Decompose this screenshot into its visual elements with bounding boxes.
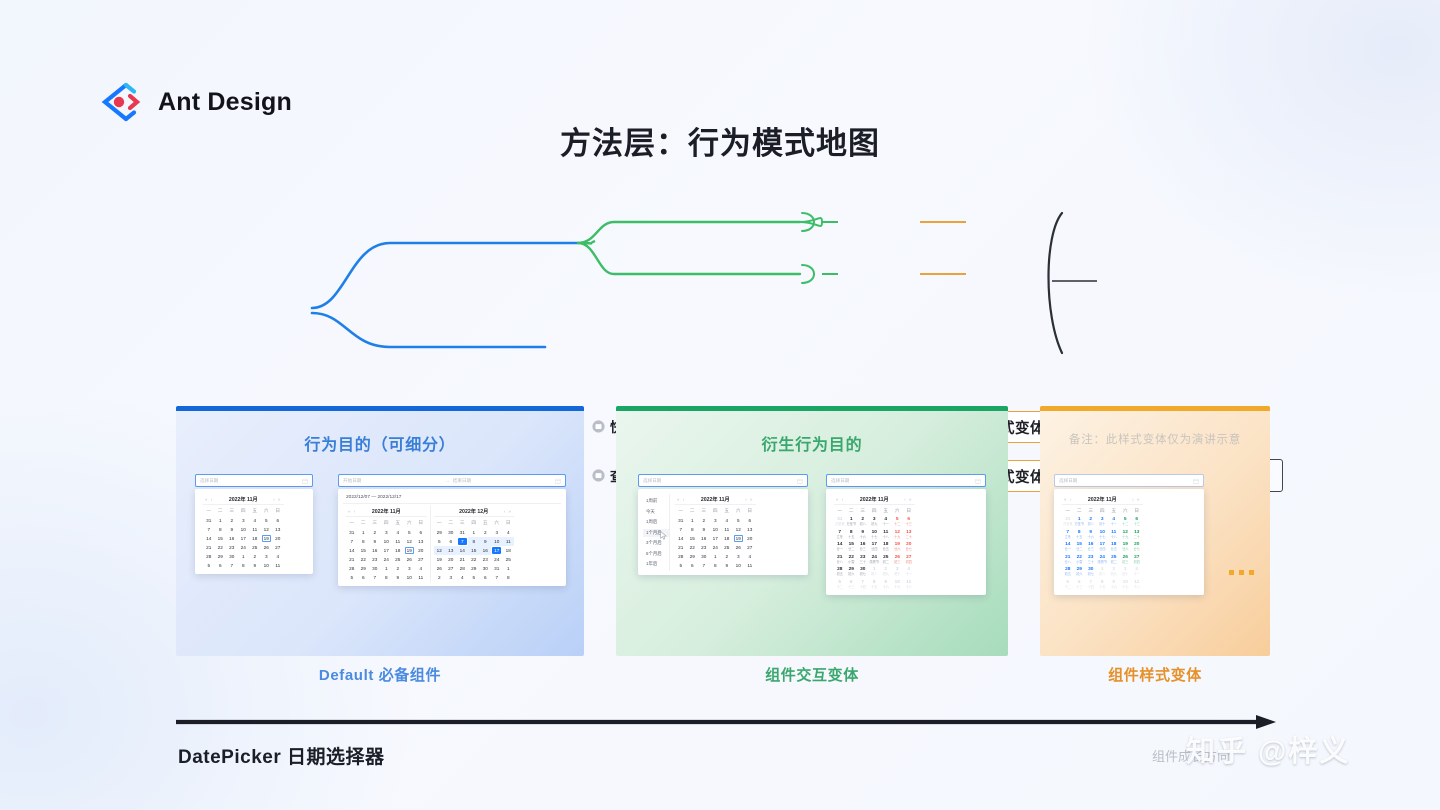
calendar-day-cell[interactable]: 5: [675, 561, 687, 570]
calendar-day-cell[interactable]: 9: [480, 537, 492, 546]
calendar-day-cell[interactable]: 1: [710, 552, 722, 561]
calendar-day-cell[interactable]: 25初二: [1108, 554, 1120, 567]
calendar-day-cell[interactable]: 26: [261, 543, 273, 552]
calendar-day-cell[interactable]: 7: [226, 561, 238, 570]
calendar-day-cell[interactable]: 6: [480, 573, 492, 582]
calendar-day-cell[interactable]: 20: [272, 534, 284, 543]
calendar-day-cell[interactable]: 17: [710, 534, 722, 543]
calendar-day-cell[interactable]: 28: [203, 552, 215, 561]
calendar-day-cell[interactable]: 28初五: [1062, 566, 1074, 579]
calendar-day-cell[interactable]: 14廿一: [834, 541, 846, 554]
calendar-day-cell[interactable]: 15: [468, 546, 480, 555]
calendar-day-cell[interactable]: 2: [369, 528, 381, 537]
prev-year-button[interactable]: « ‹: [677, 497, 685, 502]
calendar-day-cell[interactable]: 27: [415, 555, 427, 564]
calendar-day-cell[interactable]: 2: [392, 564, 404, 573]
calendar-day-cell[interactable]: 15: [687, 534, 699, 543]
calendar-day-cell[interactable]: 12十九: [1120, 529, 1132, 542]
datepicker-styled[interactable]: 选择日期 « ‹ 2022年 11月 › » 一二三四五: [1054, 474, 1204, 595]
calendar-day-cell[interactable]: 17: [238, 534, 250, 543]
calendar-day-cell[interactable]: 18: [503, 546, 515, 555]
next-year-button[interactable]: › »: [504, 509, 512, 514]
calendar-day-cell[interactable]: 15廿二: [1074, 541, 1086, 554]
calendar-day-cell[interactable]: 6十三: [1074, 579, 1086, 592]
calendar-day-cell[interactable]: 10十七: [1097, 529, 1109, 542]
calendar-day-cell[interactable]: 9: [392, 573, 404, 582]
calendar-day-cell[interactable]: 5十二: [1120, 516, 1132, 529]
calendar-day-cell[interactable]: 25: [392, 555, 404, 564]
calendar-day-cell[interactable]: 25: [249, 543, 261, 552]
calendar-day-cell[interactable]: 5十二: [834, 579, 846, 592]
datepicker-range[interactable]: 开始日期 → 结束日期 2022/12/07 — 2022/12/17 « ‹: [338, 474, 566, 586]
calendar-day-cell[interactable]: 5十二: [892, 516, 904, 529]
calendar-day-cell[interactable]: 6: [744, 516, 756, 525]
calendar-day-cell[interactable]: 9: [721, 561, 733, 570]
calendar-day-cell[interactable]: 29: [468, 564, 480, 573]
calendar-day-cell[interactable]: 17廿四: [869, 541, 881, 554]
calendar-day-cell[interactable]: 3: [261, 552, 273, 561]
prev-year-button[interactable]: « ‹: [1064, 497, 1072, 502]
calendar-title[interactable]: 2022年 11月: [1088, 496, 1117, 503]
calendar-title[interactable]: 2022年 11月: [860, 496, 889, 503]
calendar-day-cell[interactable]: 10: [491, 537, 503, 546]
calendar-day-cell[interactable]: 29初六: [846, 566, 858, 579]
datepicker-range-input[interactable]: 开始日期 → 结束日期: [338, 474, 566, 487]
calendar-day-cell[interactable]: 6: [415, 528, 427, 537]
calendar-day-cell[interactable]: 6: [272, 516, 284, 525]
calendar-day-cell[interactable]: 3: [238, 516, 250, 525]
calendar-day-cell[interactable]: 1: [215, 516, 227, 525]
calendar-day-cell[interactable]: 10: [733, 561, 745, 570]
calendar-day-cell[interactable]: 28: [346, 564, 358, 573]
calendar-day-cell[interactable]: 18: [392, 546, 404, 555]
calendar-day-cell[interactable]: 20廿七: [903, 541, 915, 554]
calendar-day-cell[interactable]: 19: [404, 546, 416, 555]
calendar-day-cell[interactable]: 20: [744, 534, 756, 543]
calendar-day-cell[interactable]: 1: [468, 528, 480, 537]
calendar-day-cell[interactable]: 13: [744, 525, 756, 534]
calendar-day-cell[interactable]: 9十六: [1108, 579, 1120, 592]
calendar-day-cell[interactable]: 17: [381, 546, 393, 555]
calendar-day-cell[interactable]: 26初三: [1120, 554, 1132, 567]
calendar-day-cell[interactable]: 18: [249, 534, 261, 543]
calendar-day-cell[interactable]: 10: [381, 537, 393, 546]
calendar-day-cell[interactable]: 6: [358, 573, 370, 582]
calendar-grid: 一二三四五六日 31123456789101112131415161718192…: [203, 506, 284, 570]
calendar-day-cell[interactable]: 10: [238, 525, 250, 534]
calendar-day-cell[interactable]: 21: [203, 543, 215, 552]
calendar-day-cell[interactable]: 16: [226, 534, 238, 543]
calendar-day-cell[interactable]: 29: [687, 552, 699, 561]
calendar-day-cell[interactable]: 29: [434, 528, 446, 537]
calendar-day-cell[interactable]: 3初十: [1097, 516, 1109, 529]
datepicker-input[interactable]: 选择日期: [826, 474, 986, 487]
calendar-day-cell[interactable]: 3: [491, 528, 503, 537]
calendar-day-cell[interactable]: 9十六: [880, 579, 892, 592]
calendar-day-cell[interactable]: 26: [434, 564, 446, 573]
calendar-title[interactable]: 2022年 11月: [372, 508, 401, 515]
preset-item[interactable]: 1年后: [643, 560, 669, 568]
calendar-day-cell[interactable]: 2: [480, 528, 492, 537]
calendar-day-cell[interactable]: 12: [261, 525, 273, 534]
calendar-day-cell[interactable]: 24: [710, 543, 722, 552]
panel-style-variants: 备注：此样式变体仅为演讲示意 选择日期 « ‹ 2022年 11月 › »: [1040, 406, 1270, 656]
calendar-day-cell[interactable]: 19: [733, 534, 745, 543]
calendar-day-cell[interactable]: 11: [392, 537, 404, 546]
calendar-day-cell[interactable]: 4十一: [1131, 566, 1143, 579]
calendar-day-cell[interactable]: 25: [721, 543, 733, 552]
calendar-day-cell[interactable]: 29: [358, 564, 370, 573]
calendar-day-cell[interactable]: 10十七: [1120, 579, 1132, 592]
calendar-day-cell[interactable]: 2: [434, 573, 446, 582]
calendar-day-cell[interactable]: 21廿八: [834, 554, 846, 567]
calendar-day-cell[interactable]: 11: [415, 573, 427, 582]
calendar-day-cell[interactable]: 7十四: [857, 579, 869, 592]
calendar-day-cell[interactable]: 22: [468, 555, 480, 564]
calendar-day-cell[interactable]: 21: [675, 543, 687, 552]
calendar-day-cell[interactable]: 3初九: [869, 516, 881, 529]
datepicker-input[interactable]: 选择日期: [1054, 474, 1204, 487]
calendar-day-cell[interactable]: 24: [491, 555, 503, 564]
datepicker-input[interactable]: 选择日期: [195, 474, 313, 487]
calendar-day-cell[interactable]: 9: [698, 525, 710, 534]
calendar-day-cell[interactable]: 4十一: [903, 566, 915, 579]
calendar-day-cell[interactable]: 19廿六: [1120, 541, 1132, 554]
calendar-day-cell[interactable]: 22: [687, 543, 699, 552]
calendar-day-cell[interactable]: 22小雪: [846, 554, 858, 567]
calendar-day-cell[interactable]: 7立冬: [834, 529, 846, 542]
calendar-day-cell[interactable]: 7十四: [1085, 579, 1097, 592]
calendar-day-cell[interactable]: 30初七: [857, 566, 869, 579]
calendar-day-cell[interactable]: 3: [381, 528, 393, 537]
calendar-day-cell[interactable]: 7: [203, 525, 215, 534]
calendar-day-cell[interactable]: 5: [404, 528, 416, 537]
calendar-day-cell[interactable]: 10十七: [869, 529, 881, 542]
calendar-day-cell[interactable]: 3: [404, 564, 416, 573]
calendar-day-cell[interactable]: 1: [503, 564, 515, 573]
more-variants-ellipsis[interactable]: [1229, 570, 1254, 575]
calendar-day-cell[interactable]: 25: [503, 555, 515, 564]
calendar-day-cell[interactable]: 23三十: [1085, 554, 1097, 567]
calendar-day-cell[interactable]: 27: [744, 543, 756, 552]
next-year-button[interactable]: › »: [745, 497, 753, 502]
calendar-day-cell[interactable]: 4: [415, 564, 427, 573]
calendar-day-cell[interactable]: 12十九: [892, 529, 904, 542]
calendar-day-cell[interactable]: 23: [480, 555, 492, 564]
calendar-day-cell[interactable]: 23: [369, 555, 381, 564]
calendar-day-cell[interactable]: 23: [698, 543, 710, 552]
calendar-day-cell[interactable]: 5: [733, 516, 745, 525]
calendar-day-cell[interactable]: 22: [358, 555, 370, 564]
calendar-day-cell[interactable]: 2初八: [857, 516, 869, 529]
calendar-day-cell[interactable]: 16廿三: [1085, 541, 1097, 554]
calendar-day-cell[interactable]: 27初四: [1131, 554, 1143, 567]
calendar-day-cell[interactable]: 9十六: [857, 529, 869, 542]
calendar-day-cell[interactable]: 11: [503, 537, 515, 546]
calendar-day-cell[interactable]: 3初十: [892, 566, 904, 579]
calendar-day-cell[interactable]: 7: [457, 537, 469, 546]
calendar-day-cell[interactable]: 23: [226, 543, 238, 552]
calendar-day-cell[interactable]: 7: [698, 561, 710, 570]
calendar-day-cell[interactable]: 5: [434, 537, 446, 546]
weekday-header-cell: 六: [261, 506, 273, 516]
calendar-day-cell[interactable]: 4: [721, 516, 733, 525]
calendar-day-cell[interactable]: 30: [445, 528, 457, 537]
calendar-day-cell[interactable]: 30初七: [1085, 566, 1097, 579]
calendar-week-row: 14151617181920: [346, 546, 427, 555]
calendar-day-cell[interactable]: 31: [491, 564, 503, 573]
calendar-day-cell[interactable]: 24感恩节: [1097, 554, 1109, 567]
calendar-day-cell[interactable]: 8: [503, 573, 515, 582]
calendar-day-cell[interactable]: 11: [721, 525, 733, 534]
calendar-day-cell[interactable]: 11十八: [1108, 529, 1120, 542]
calendar-day-cell[interactable]: 24感恩节: [869, 554, 881, 567]
calendar-day-cell[interactable]: 12: [434, 546, 446, 555]
dot-icon: [1239, 570, 1244, 575]
calendar-day-cell[interactable]: 11十八: [1131, 579, 1143, 592]
calendar-day-cell[interactable]: 14廿一: [1062, 541, 1074, 554]
calendar-day-cell[interactable]: 4: [457, 573, 469, 582]
calendar-day-cell[interactable]: 22小雪: [1074, 554, 1086, 567]
calendar-day-cell[interactable]: 14: [457, 546, 469, 555]
weekday-header-cell: 二: [358, 518, 370, 528]
preset-item[interactable]: 6个月后: [643, 550, 669, 558]
calendar-day-cell[interactable]: 26: [733, 543, 745, 552]
calendar-day-cell[interactable]: 6十三: [1131, 516, 1143, 529]
calendar-day-cell[interactable]: 20廿七: [1131, 541, 1143, 554]
calendar-day-cell[interactable]: 13二十: [1131, 529, 1143, 542]
calendar-day-cell[interactable]: 1: [238, 552, 250, 561]
calendar-day-cell[interactable]: 24: [238, 543, 250, 552]
calendar-day-cell[interactable]: 2初九: [1108, 566, 1120, 579]
calendar-day-cell[interactable]: 2: [698, 516, 710, 525]
calendar-day-cell[interactable]: 16: [480, 546, 492, 555]
calendar-day-cell[interactable]: 1万圣节: [1074, 516, 1086, 529]
calendar-day-cell[interactable]: 4: [392, 528, 404, 537]
panel-body: 行为目的（可细分） 选择日期 « ‹ 2022年 11月: [176, 411, 584, 656]
calendar-day-cell[interactable]: 13二十: [903, 529, 915, 542]
next-year-button[interactable]: › »: [1132, 497, 1140, 502]
calendar-day-cell[interactable]: 15廿二: [846, 541, 858, 554]
calendar-day-cell[interactable]: 1: [687, 516, 699, 525]
datepicker-input[interactable]: 选择日期: [638, 474, 808, 487]
calendar-day-cell[interactable]: 7: [675, 525, 687, 534]
datepicker-single[interactable]: 选择日期 « ‹ 2022年 11月 › »: [195, 474, 313, 574]
calendar-day-cell[interactable]: 2初八: [1085, 516, 1097, 529]
calendar-day-cell[interactable]: 14: [675, 534, 687, 543]
calendar-day-cell[interactable]: 13: [415, 537, 427, 546]
calendar-day-cell[interactable]: 8十五: [1097, 579, 1109, 592]
calendar-day-cell[interactable]: 19廿六: [892, 541, 904, 554]
calendar-day-cell[interactable]: 16: [698, 534, 710, 543]
calendar-day-cell[interactable]: 7: [491, 573, 503, 582]
calendar-day-cell[interactable]: 11: [272, 561, 284, 570]
calendar-day-cell[interactable]: 22: [215, 543, 227, 552]
calendar-day-cell[interactable]: 11十八: [903, 579, 915, 592]
calendar-day-cell[interactable]: 5: [346, 573, 358, 582]
calendar-day-cell[interactable]: 4十一: [1108, 516, 1120, 529]
calendar-day-cell[interactable]: 8: [710, 561, 722, 570]
calendar-day-cell[interactable]: 19: [434, 555, 446, 564]
calendar-day-cell[interactable]: 31: [203, 516, 215, 525]
calendar-day-cell[interactable]: 6十三: [903, 516, 915, 529]
calendar-day-cell[interactable]: 21廿八: [1062, 554, 1074, 567]
calendar-day-cell[interactable]: 29: [215, 552, 227, 561]
calendar-day-cell[interactable]: 9: [369, 537, 381, 546]
calendar-title[interactable]: 2022年 11月: [229, 496, 258, 503]
calendar-day-cell[interactable]: 26: [404, 555, 416, 564]
calendar-day-cell[interactable]: 2初九: [880, 566, 892, 579]
calendar-day-cell[interactable]: 3: [733, 552, 745, 561]
calendar-day-cell[interactable]: 18: [721, 534, 733, 543]
prev-year-button[interactable]: « ‹: [348, 509, 356, 514]
calendar-day-cell[interactable]: 3初十: [1120, 566, 1132, 579]
calendar-day-cell[interactable]: 13: [445, 546, 457, 555]
calendar-day-cell[interactable]: 7: [346, 537, 358, 546]
day-sublabel: 廿二: [846, 548, 858, 551]
calendar-week-row: 21222324252627: [203, 543, 284, 552]
day-sublabel: 十九: [892, 536, 904, 539]
calendar-day-cell[interactable]: 10: [710, 525, 722, 534]
calendar-day-cell[interactable]: 6十三: [846, 579, 858, 592]
calendar-day-cell[interactable]: 5十二: [1062, 579, 1074, 592]
calendar-week-row: 14151617181920: [203, 534, 284, 543]
calendar-day-cell[interactable]: 21: [457, 555, 469, 564]
calendar-day-cell[interactable]: 5: [203, 561, 215, 570]
calendar-day-cell[interactable]: 27初四: [903, 554, 915, 567]
calendar-day-cell[interactable]: 16: [369, 546, 381, 555]
calendar-day-cell[interactable]: 23三十: [857, 554, 869, 567]
calendar-day-cell[interactable]: 15: [358, 546, 370, 555]
calendar-day-cell[interactable]: 1初八: [1097, 566, 1109, 579]
preset-item[interactable]: 今天: [643, 508, 669, 516]
calendar-day-cell[interactable]: 30: [226, 552, 238, 561]
calendar-day-cell[interactable]: 12: [404, 537, 416, 546]
calendar-day-cell[interactable]: 4十一: [880, 516, 892, 529]
prev-year-button[interactable]: « ‹: [205, 497, 213, 502]
calendar-day-cell[interactable]: 31: [675, 516, 687, 525]
calendar-day-cell[interactable]: 8: [238, 561, 250, 570]
calendar-day-cell[interactable]: 8: [468, 537, 480, 546]
calendar-day-cell[interactable]: 4: [272, 552, 284, 561]
calendar-day-cell[interactable]: 12: [733, 525, 745, 534]
calendar-day-cell[interactable]: 6: [445, 537, 457, 546]
calendar-day-cell[interactable]: 20: [415, 546, 427, 555]
calendar-day-cell[interactable]: 26初三: [892, 554, 904, 567]
calendar-title[interactable]: 2022年 11月: [701, 496, 730, 503]
calendar-day-cell[interactable]: 14: [203, 534, 215, 543]
calendar-day-cell[interactable]: 8十五: [869, 579, 881, 592]
calendar-day-cell[interactable]: 3: [710, 516, 722, 525]
calendar-day-cell[interactable]: 6: [687, 561, 699, 570]
calendar-day-cell[interactable]: 5: [468, 573, 480, 582]
calendar-day-cell[interactable]: 18廿五: [1108, 541, 1120, 554]
calendar-day-cell[interactable]: 28: [675, 552, 687, 561]
calendar-day-cell[interactable]: 11: [249, 525, 261, 534]
next-year-button[interactable]: › »: [904, 497, 912, 502]
calendar-day-cell[interactable]: 10: [404, 573, 416, 582]
calendar-day-cell[interactable]: 3: [445, 573, 457, 582]
calendar-day-cell[interactable]: 7立冬: [1062, 529, 1074, 542]
calendar-day-cell[interactable]: 27: [445, 564, 457, 573]
calendar-day-cell[interactable]: 21: [346, 555, 358, 564]
calendar-day-cell[interactable]: 7: [369, 573, 381, 582]
calendar-day-cell[interactable]: 17: [491, 546, 503, 555]
calendar-day-cell[interactable]: 19: [261, 534, 273, 543]
preset-item[interactable]: 3个月后: [643, 539, 669, 547]
calendar-day-cell[interactable]: 31万圣夜: [1062, 516, 1074, 529]
calendar-day-cell[interactable]: 2: [721, 552, 733, 561]
calendar-day-cell[interactable]: 10: [261, 561, 273, 570]
calendar-day-cell[interactable]: 20: [445, 555, 457, 564]
calendar-day-cell[interactable]: 8: [358, 537, 370, 546]
calendar-day-cell[interactable]: 6: [215, 561, 227, 570]
preset-item[interactable]: 1周前: [643, 497, 669, 505]
next-year-button[interactable]: › »: [273, 497, 281, 502]
day-sublabel: 初三: [1120, 561, 1132, 564]
calendar-day-cell[interactable]: 8: [381, 573, 393, 582]
calendar-day-cell[interactable]: 13: [272, 525, 284, 534]
calendar-day-cell[interactable]: 8十五: [846, 529, 858, 542]
calendar-day-cell[interactable]: 31万圣夜: [834, 516, 846, 529]
calendar-day-cell[interactable]: 8: [215, 525, 227, 534]
calendar-day-cell[interactable]: 25初二: [880, 554, 892, 567]
datepicker-with-presets[interactable]: 选择日期 1周前今天1周后1个月后3个月后6个月后1年后 « ‹ 2022: [638, 474, 808, 575]
calendar-day-cell[interactable]: 4: [744, 552, 756, 561]
calendar-day-cell[interactable]: 28: [457, 564, 469, 573]
calendar-day-cell[interactable]: 28初五: [834, 566, 846, 579]
calendar-day-cell[interactable]: 27: [272, 543, 284, 552]
calendar-day-cell[interactable]: 31: [457, 528, 469, 537]
calendar-day-cell[interactable]: 4: [249, 516, 261, 525]
preset-item[interactable]: 1周后: [643, 518, 669, 526]
calendar-day-cell[interactable]: 1: [358, 528, 370, 537]
calendar-day-cell[interactable]: 5: [261, 516, 273, 525]
calendar-title[interactable]: 2022年 12月: [459, 508, 488, 515]
calendar-day-cell[interactable]: 15: [215, 534, 227, 543]
prev-year-button[interactable]: « ‹: [836, 497, 844, 502]
calendar-day-cell[interactable]: 24: [381, 555, 393, 564]
calendar-day-cell[interactable]: 11十八: [880, 529, 892, 542]
calendar-day-cell[interactable]: 2: [226, 516, 238, 525]
calendar-day-cell[interactable]: 11: [744, 561, 756, 570]
calendar-day-cell[interactable]: 2: [249, 552, 261, 561]
calendar-day-cell[interactable]: 9: [249, 561, 261, 570]
calendar-day-cell[interactable]: 14: [346, 546, 358, 555]
calendar-header: « ‹ 2022年 11月 › »: [675, 494, 756, 505]
calendar-day-cell[interactable]: 9: [226, 525, 238, 534]
calendar-day-cell[interactable]: 29初六: [1074, 566, 1086, 579]
datepicker-lunar[interactable]: 选择日期 « ‹ 2022年 11月 › » 一二三四五: [826, 474, 986, 595]
calendar-day-cell[interactable]: 1: [381, 564, 393, 573]
day-sublabel: 立冬: [834, 536, 846, 539]
calendar-day-cell[interactable]: 30: [369, 564, 381, 573]
calendar-day-cell[interactable]: 16廿三: [857, 541, 869, 554]
calendar-day-cell[interactable]: 4: [503, 528, 515, 537]
calendar-day-cell[interactable]: 18廿五: [880, 541, 892, 554]
calendar-icon: [1193, 478, 1199, 484]
calendar-day-cell[interactable]: 31: [346, 528, 358, 537]
calendar-day-cell[interactable]: 8十五: [1074, 529, 1086, 542]
calendar-day-cell[interactable]: 10十七: [892, 579, 904, 592]
calendar-day-cell[interactable]: 30: [480, 564, 492, 573]
calendar-day-cell[interactable]: 17廿四: [1097, 541, 1109, 554]
calendar-day-cell[interactable]: 30: [698, 552, 710, 561]
calendar-day-cell[interactable]: 1万圣节: [846, 516, 858, 529]
calendar-day-cell[interactable]: 8: [687, 525, 699, 534]
calendar-day-cell[interactable]: 1初八: [869, 566, 881, 579]
calendar-day-cell[interactable]: 9十六: [1085, 529, 1097, 542]
